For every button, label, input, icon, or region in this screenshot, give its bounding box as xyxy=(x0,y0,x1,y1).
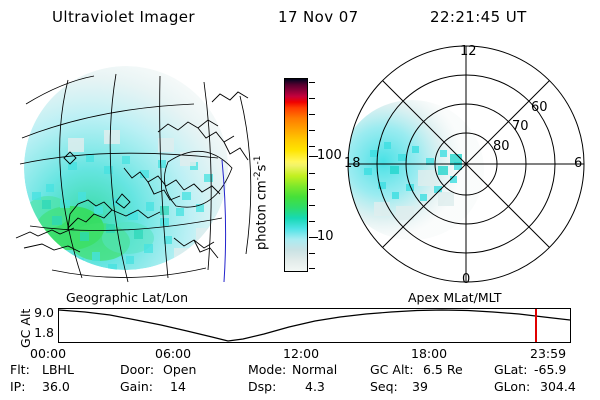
mlt-label-6: 6 xyxy=(574,156,582,171)
mlt-label-0: 0 xyxy=(462,272,470,287)
status-glon-label: GLon: xyxy=(494,379,530,394)
colorbar-unit-prefix: photon cm xyxy=(254,180,269,250)
status-mode-value: Normal xyxy=(292,362,337,377)
status-door-label: Door: xyxy=(120,362,154,377)
observation-time: 22:21:45 UT xyxy=(430,8,527,26)
status-ip-value: 36.0 xyxy=(42,379,70,394)
mlat-label-80: 80 xyxy=(493,139,510,154)
status-flt-label: Flt: xyxy=(10,362,30,377)
header-bar: Ultraviolet Imager 17 Nov 07 22:21:45 UT xyxy=(0,6,600,32)
geographic-image-panel[interactable] xyxy=(8,42,260,288)
instrument-title: Ultraviolet Imager xyxy=(52,8,195,26)
colorbar-unit-exp2: -1 xyxy=(253,156,263,165)
status-door-value: Open xyxy=(163,362,196,377)
status-gcalt-label: GC Alt: xyxy=(370,362,414,377)
status-seq-label: Seq: xyxy=(370,379,398,394)
status-glon-value: 304.4 xyxy=(540,379,576,394)
status-seq-value: 39 xyxy=(412,379,428,394)
colorbar-unit-exp1: -2 xyxy=(253,171,263,180)
status-glat-label: GLat: xyxy=(494,362,527,377)
status-mode-label: Mode: xyxy=(248,362,286,377)
colorbar-unit-mid: s xyxy=(254,165,269,172)
uvi-display: Ultraviolet Imager 17 Nov 07 22:21:45 UT xyxy=(0,0,600,400)
status-gcalt-value: 6.5 Re xyxy=(423,362,463,377)
status-flt-value: LBHL xyxy=(42,362,74,377)
status-footer: Flt: LBHL Door: Open Mode: Normal GC Alt… xyxy=(0,362,600,398)
timeline-xtick-0: 00:00 xyxy=(30,346,66,361)
mlt-label-18: 18 xyxy=(344,156,361,171)
timeline-ytick-low: 1.8 xyxy=(22,325,54,340)
status-gain-value: 14 xyxy=(170,379,186,394)
apex-panel-caption: Apex MLat/MLT xyxy=(408,290,502,305)
observation-date: 17 Nov 07 xyxy=(278,8,359,26)
status-dsp-value: 4.3 xyxy=(305,379,325,394)
timeline-xtick-3: 18:00 xyxy=(411,346,447,361)
altitude-timeline-plot[interactable] xyxy=(58,308,571,343)
mlat-label-60: 60 xyxy=(531,100,548,115)
current-time-marker xyxy=(535,309,537,342)
mlt-label-12: 12 xyxy=(460,44,477,59)
altitude-trace xyxy=(59,309,570,342)
timeline-xtick-1: 06:00 xyxy=(155,346,191,361)
geographic-panel-caption: Geographic Lat/Lon xyxy=(66,290,188,305)
aurora-emission-geographic xyxy=(24,66,228,272)
status-gain-label: Gain: xyxy=(120,379,153,394)
timeline-ytick-high: 9.0 xyxy=(22,305,54,320)
status-glat-value: -65.9 xyxy=(534,362,566,377)
status-dsp-label: Dsp: xyxy=(248,379,276,394)
timeline-xtick-2: 12:00 xyxy=(283,346,319,361)
apex-polar-panel[interactable] xyxy=(334,42,592,292)
status-ip-label: IP: xyxy=(10,379,25,394)
mlat-label-70: 70 xyxy=(512,119,529,134)
mlt-spokes xyxy=(348,46,584,282)
timeline-xtick-4: 23:59 xyxy=(530,346,566,361)
